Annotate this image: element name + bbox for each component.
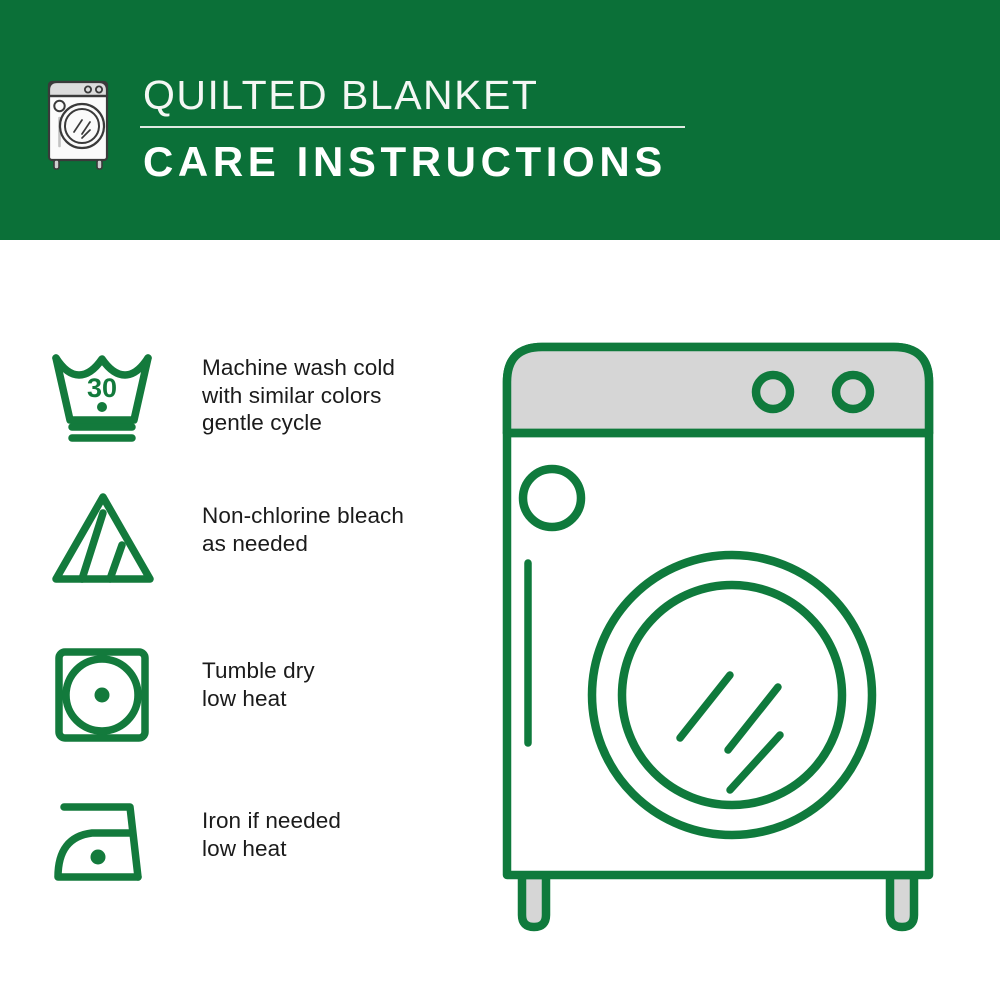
care-text: Non-chlorine bleach as needed [202, 502, 477, 557]
care-text: Machine wash cold with similar colors ge… [202, 354, 477, 437]
care-text-line: Iron if needed [202, 807, 477, 835]
header-text-block: QUILTED BLANKET CARE INSTRUCTIONS [140, 72, 710, 185]
care-text: Tumble dry low heat [202, 657, 477, 712]
page-title: QUILTED BLANKET [140, 72, 710, 118]
care-text-line: low heat [202, 685, 477, 713]
care-text-line: Tumble dry [202, 657, 477, 685]
care-row: Tumble dry low heat [0, 643, 480, 763]
machine-leg-left [522, 875, 546, 927]
front-load-washing-machine-illustration [480, 320, 980, 945]
care-text-line: gentle cycle [202, 409, 477, 437]
tumble-dry-low-heat-icon [50, 643, 162, 743]
iron-low-heat-icon [50, 793, 162, 893]
care-row: Non-chlorine bleach as needed [0, 487, 480, 607]
washing-machine-icon [44, 66, 120, 176]
wash-temp-label: 30 [87, 373, 117, 403]
care-text-line: Machine wash cold [202, 354, 477, 382]
care-text-line: Non-chlorine bleach [202, 502, 477, 530]
header-band: QUILTED BLANKET CARE INSTRUCTIONS [0, 0, 1000, 240]
non-chlorine-bleach-triangle-icon [50, 487, 162, 587]
title-divider [140, 126, 685, 128]
care-text-line: with similar colors [202, 382, 477, 410]
care-text: Iron if needed low heat [202, 807, 477, 862]
machine-wash-30-gentle-icon: 30 [50, 345, 162, 445]
care-text-line: as needed [202, 530, 477, 558]
care-row: 30 Machine wash cold with similar colors… [0, 345, 480, 465]
care-text-line: low heat [202, 835, 477, 863]
machine-leg-right [890, 875, 914, 927]
page-subtitle: CARE INSTRUCTIONS [140, 139, 710, 185]
care-instructions-infographic: QUILTED BLANKET CARE INSTRUCTIONS 3 [0, 0, 1000, 1000]
care-row: Iron if needed low heat [0, 793, 480, 913]
